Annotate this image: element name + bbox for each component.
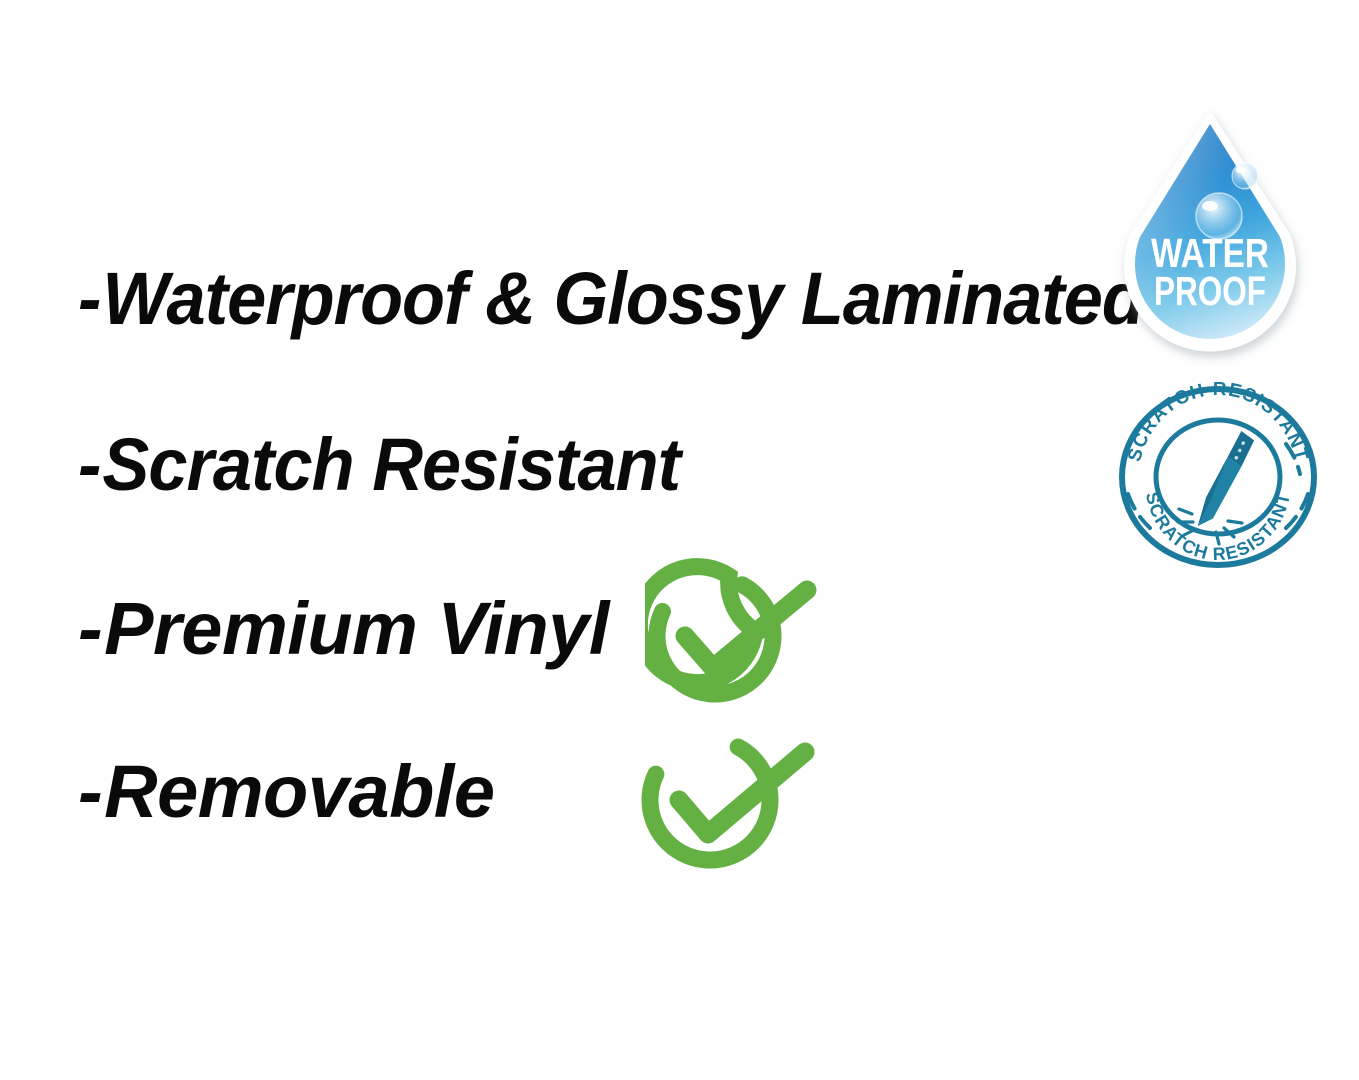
feature-label: Removable [104, 750, 494, 833]
feature-dash: - [78, 755, 102, 829]
knife-icon [1197, 427, 1256, 535]
bubble-large-highlight [1202, 201, 1218, 211]
feature-dash: - [78, 592, 102, 666]
check-circle-arc [637, 719, 791, 880]
feature-label: Premium Vinyl [104, 587, 609, 670]
bubble-small-icon [1232, 163, 1258, 189]
feature-item-scratch-resistant: -Scratch Resistant [78, 428, 680, 502]
scratch-top-arc-textpath: SCRATCH RESISTANT [1124, 382, 1312, 464]
feature-label: Waterproof & Glossy Laminated [102, 257, 1143, 340]
bubble-small-highlight [1236, 167, 1245, 173]
check-mark-stroke [679, 752, 805, 834]
check-circle-premium-vinyl [645, 558, 835, 713]
feature-list: -Waterproof & Glossy Laminated -Scratch … [0, 0, 1120, 1080]
feature-item-removable: -Removable [78, 755, 494, 829]
feature-item-premium-vinyl: -Premium Vinyl [78, 592, 609, 666]
product-feature-graphic: -Waterproof & Glossy Laminated -Scratch … [0, 0, 1359, 1080]
scratch-top-arc-text: SCRATCH RESISTANT [1124, 382, 1312, 464]
waterproof-badge: WATER PROOF [1104, 104, 1316, 366]
feature-dash: - [78, 428, 100, 502]
waterproof-line2: PROOF [1154, 268, 1266, 314]
feature-label: Scratch Resistant [102, 423, 680, 506]
scratch-resistant-badge: SCRATCH RESISTANT SCRATCH RESISTANT [1114, 382, 1322, 572]
feature-item-waterproof: -Waterproof & Glossy Laminated [78, 262, 1144, 336]
feature-dash: - [78, 262, 100, 336]
check-circle-removable [637, 718, 833, 880]
